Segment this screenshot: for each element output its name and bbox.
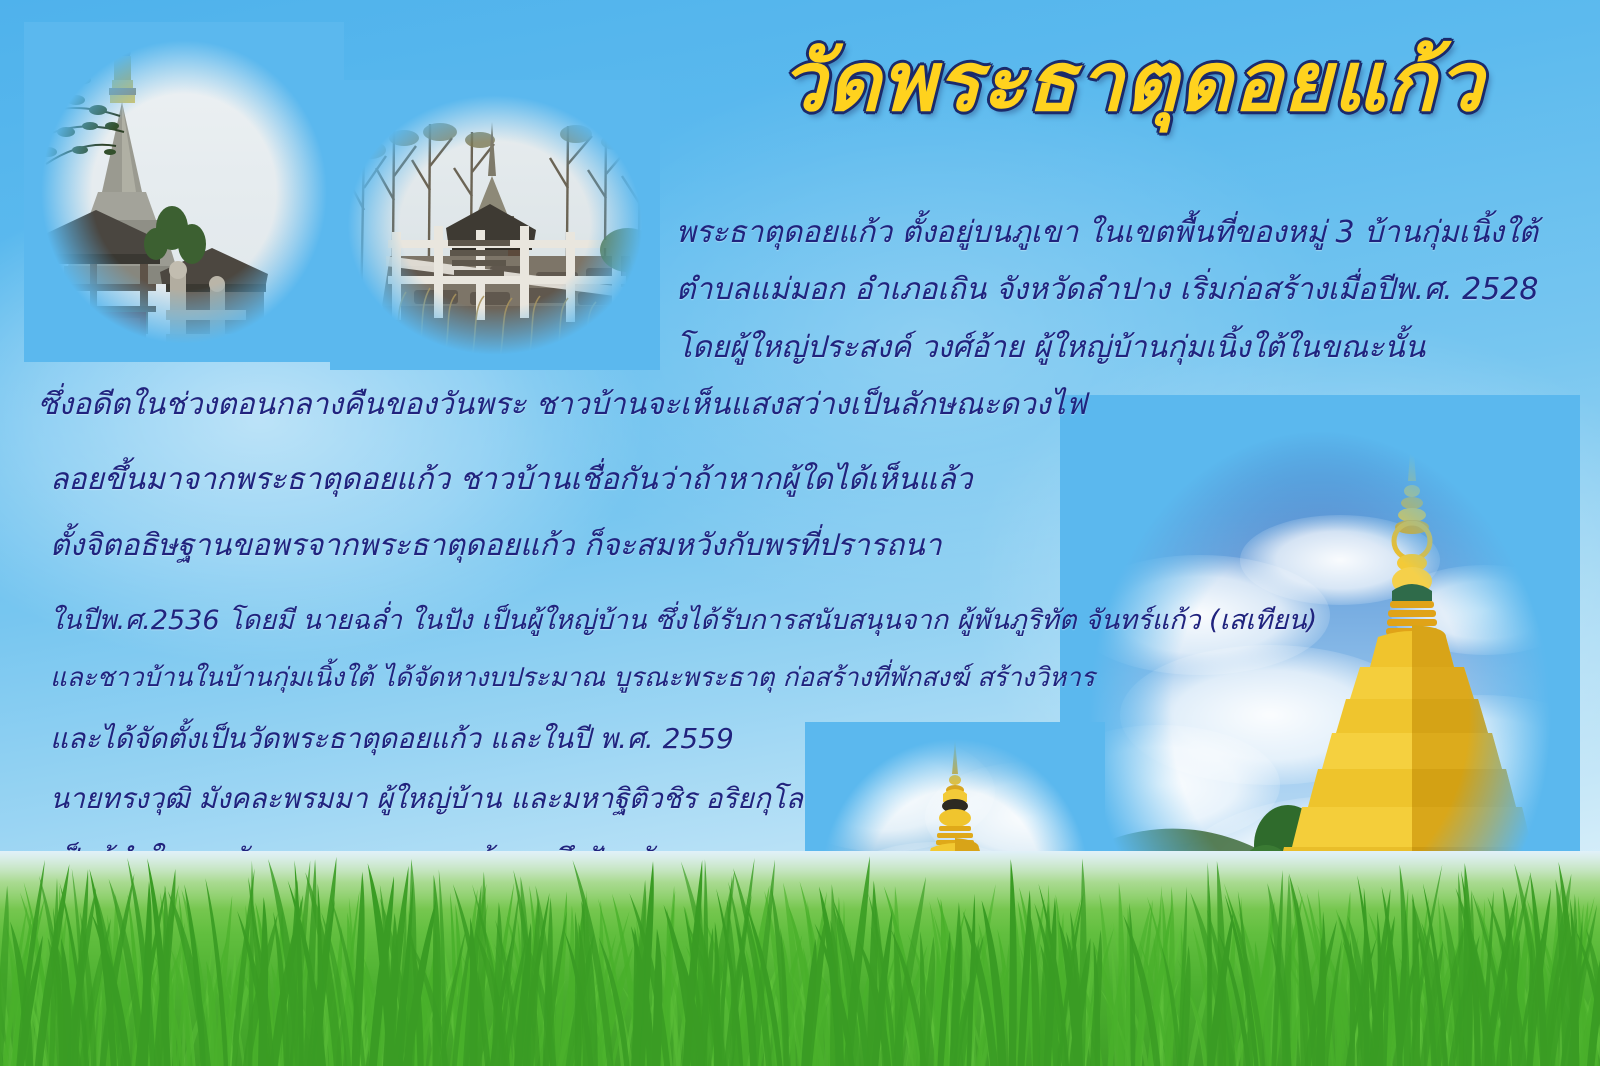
- body-line: ในปีพ.ศ.2536 โดยมี นายฉล่ำ ในปัง เป็นผู้…: [50, 605, 1317, 637]
- grass-field: [0, 851, 1600, 1066]
- body-line: และได้จัดตั้งเป็นวัดพระธาตุดอยแก้ว และใน…: [50, 722, 734, 756]
- body-line: ซึ่งอดีตในช่วงตอนกลางคืนของวันพระ ชาวบ้า…: [38, 387, 1087, 423]
- page-title: วัดพระธาตุดอยแก้ว: [780, 40, 1480, 126]
- body-line: ตั้งจิตอธิษฐานขอพรจากพระธาตุดอยแก้ว ก็จะ…: [50, 528, 942, 564]
- body-line: โดยผู้ใหญ่ประสงค์ วงศ์อ้าย ผู้ใหญ่บ้านกุ…: [676, 330, 1425, 366]
- body-line: และชาวบ้านในบ้านกุ่มเนิ้งใต้ ได้จัดหางบป…: [50, 663, 1095, 694]
- poster-canvas: วัดพระธาตุดอยแก้ว พระธาตุดอยแก้ว ตั้งอยู…: [0, 0, 1600, 1066]
- body-line: ลอยขึ้นมาจากพระธาตุดอยแก้ว ชาวบ้านเชื่อก…: [50, 462, 972, 498]
- body-line: ตำบลแม่มอก อำเภอเถิน จังหวัดลำปาง เริ่มก…: [676, 272, 1538, 308]
- photo-old-pagoda-2: [330, 80, 660, 370]
- body-line: นายทรงวุฒิ มังคละพรมมา ผู้ใหญ่บ้าน และมห…: [50, 782, 803, 816]
- photo-old-pagoda-1: [24, 22, 344, 362]
- body-line: พระธาตุดอยแก้ว ตั้งอยู่บนภูเขา ในเขตพื้น…: [676, 215, 1538, 251]
- grass-blades: [0, 851, 1600, 1066]
